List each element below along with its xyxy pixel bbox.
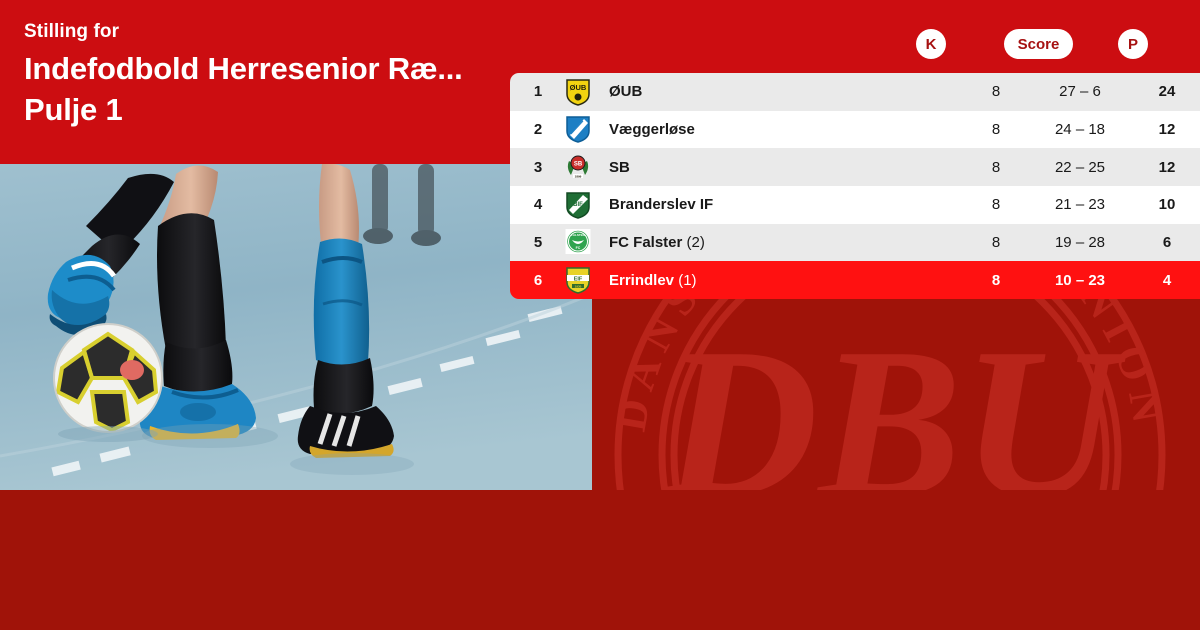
row-matches-played: 8 (966, 159, 1026, 176)
svg-text:1899: 1899 (575, 175, 582, 179)
row-score: 10 – 23 (1026, 272, 1134, 289)
fcfalster-crest-icon: FALSTERFC (558, 228, 598, 256)
sb-crest-icon: SB1899 (558, 153, 598, 181)
row-position: 1 (518, 83, 558, 100)
row-score: 24 – 18 (1026, 121, 1134, 138)
row-matches-played: 8 (966, 272, 1026, 289)
row-matches-played: 8 (966, 196, 1026, 213)
svg-text:1930: 1930 (575, 285, 582, 289)
poster-canvas: DANSK BOLDSPIL-UNION · 1889 · DBU Stilli… (0, 0, 1200, 630)
team-label: Branderslev IF (609, 196, 713, 213)
team-label-suffix: (2) (682, 234, 705, 251)
team-label: ØUB (609, 83, 642, 100)
row-position: 4 (518, 196, 558, 213)
table-row[interactable]: 6EIF1930Errindlev (1)810 – 234 (510, 261, 1200, 299)
row-team-name[interactable]: Errindlev (1) (598, 272, 966, 289)
table-row[interactable]: 3SB1899SB822 – 2512 (510, 148, 1200, 186)
row-team-name[interactable]: Væggerløse (598, 121, 966, 138)
row-position: 6 (518, 272, 558, 289)
row-points: 6 (1134, 234, 1200, 251)
row-team-name[interactable]: ØUB (598, 83, 966, 100)
row-points: 10 (1134, 196, 1200, 213)
branderslev-crest-icon: BIF (558, 191, 598, 219)
row-matches-played: 8 (966, 121, 1026, 138)
team-label: FC Falster (609, 234, 682, 251)
row-score: 22 – 25 (1026, 159, 1134, 176)
row-team-name[interactable]: FC Falster (2) (598, 234, 966, 251)
svg-text:ØUB: ØUB (570, 83, 587, 92)
row-score: 27 – 6 (1026, 83, 1134, 100)
svg-text:BIF: BIF (573, 202, 583, 208)
table-row[interactable]: 4BIFBranderslev IF821 – 2310 (510, 186, 1200, 224)
row-points: 12 (1134, 121, 1200, 138)
row-score: 21 – 23 (1026, 196, 1134, 213)
errindlev-crest-icon: EIF1930 (558, 266, 598, 294)
row-position: 3 (518, 159, 558, 176)
row-points: 4 (1134, 272, 1200, 289)
row-points: 24 (1134, 83, 1200, 100)
row-team-name[interactable]: SB (598, 159, 966, 176)
team-label-suffix: (1) (674, 272, 697, 289)
row-team-name[interactable]: Branderslev IF (598, 196, 966, 213)
column-header-p: P (1118, 29, 1148, 59)
team-label: Errindlev (609, 272, 674, 289)
svg-text:SB: SB (574, 162, 583, 168)
row-position: 2 (518, 121, 558, 138)
svg-text:EIF: EIF (574, 277, 583, 283)
standings-table[interactable]: 1ØUBØUB827 – 6242Væggerløse824 – 18123SB… (510, 73, 1200, 299)
hero-photo (0, 164, 592, 490)
row-matches-played: 8 (966, 234, 1026, 251)
row-matches-played: 8 (966, 83, 1026, 100)
oub-crest-icon: ØUB (558, 78, 598, 106)
row-position: 5 (518, 234, 558, 251)
table-row[interactable]: 1ØUBØUB827 – 624 (510, 73, 1200, 111)
row-score: 19 – 28 (1026, 234, 1134, 251)
column-header-k: K (916, 29, 946, 59)
svg-text:FC: FC (576, 246, 581, 250)
column-header-score: Score (1004, 29, 1073, 59)
table-column-headers: K Score P (0, 0, 1200, 73)
vaeggerloese-crest-icon (558, 115, 598, 143)
svg-text:FALSTER: FALSTER (571, 233, 586, 237)
team-label: SB (609, 159, 630, 176)
page-title-line2: Pulje 1 (24, 89, 544, 130)
table-row[interactable]: 5FALSTERFCFC Falster (2)819 – 286 (510, 224, 1200, 262)
table-row[interactable]: 2Væggerløse824 – 1812 (510, 111, 1200, 149)
team-label: Væggerløse (609, 121, 695, 138)
row-points: 12 (1134, 159, 1200, 176)
footer-band: DANSK BOLDSPIL-UNION · 1889 · DBU (0, 490, 1200, 630)
